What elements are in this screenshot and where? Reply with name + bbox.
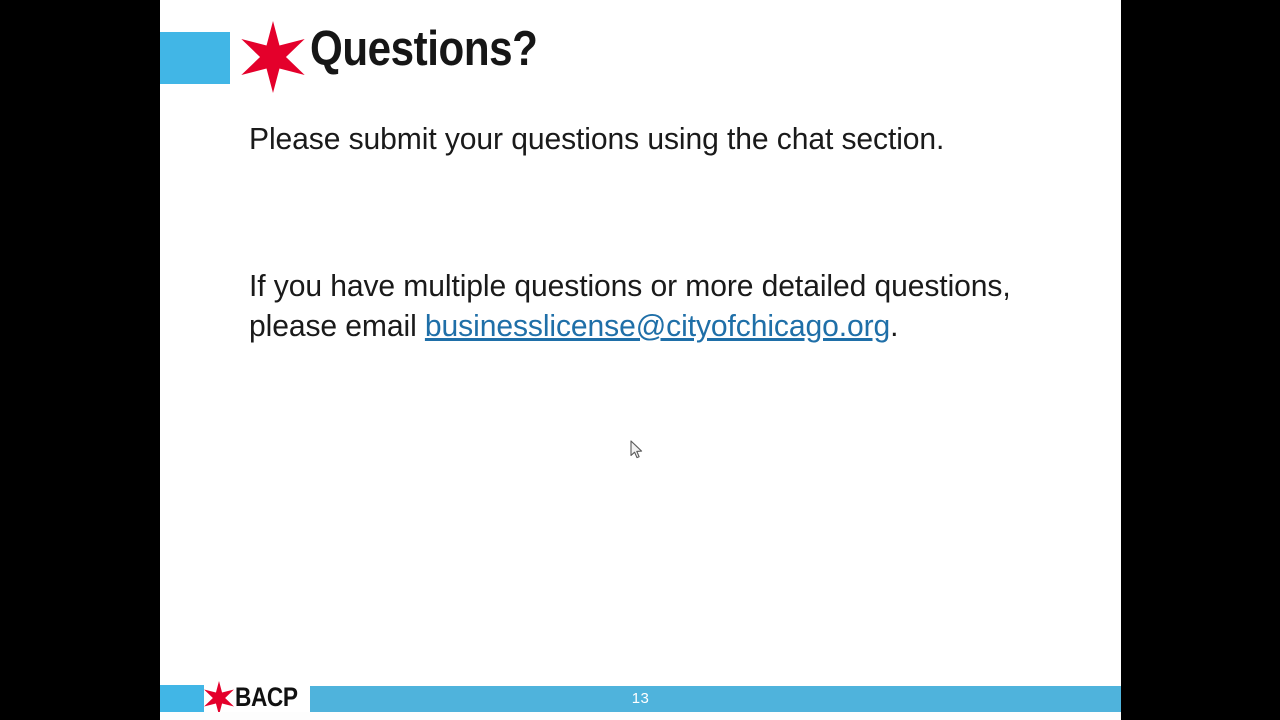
page-number: 13: [160, 685, 1121, 712]
slide-bottom-edge: [160, 712, 1121, 720]
letterbox-right: [1121, 0, 1280, 720]
video-player-viewport: Questions? Please submit your questions …: [0, 0, 1280, 720]
chicago-star-icon: [237, 21, 309, 93]
slide-body: Please submit your questions using the c…: [249, 119, 1049, 346]
presentation-slide: Questions? Please submit your questions …: [160, 0, 1121, 720]
letterbox-left: [0, 0, 160, 720]
paragraph-chat-instruction: Please submit your questions using the c…: [249, 119, 1025, 159]
paragraph-email-suffix: .: [890, 308, 898, 343]
email-link[interactable]: businesslicense@cityofchicago.org: [425, 308, 890, 343]
paragraph-email-instruction: If you have multiple questions or more d…: [249, 266, 1025, 346]
header-blue-block: [160, 32, 230, 84]
page-title: Questions?: [310, 24, 537, 75]
